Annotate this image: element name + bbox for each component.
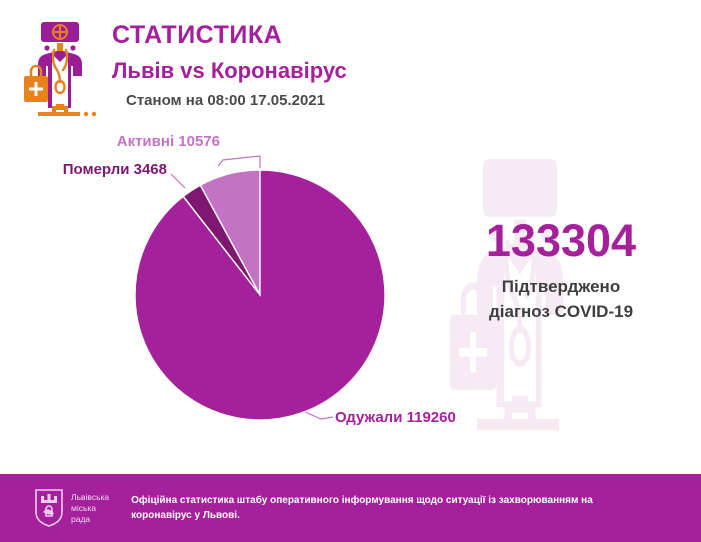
- leader-line: [305, 412, 333, 419]
- header-text-block: СТАТИСТИКА Львів vs Коронавірус Станом н…: [112, 20, 512, 111]
- leader-line: [218, 156, 260, 168]
- leader-line: [171, 174, 185, 188]
- logo-line-1: Львівська: [71, 492, 109, 503]
- confirmed-stat-block: 133304 Підтверджено діагноз COVID-19: [430, 216, 692, 324]
- main-content: Активні 10576 Померли 3468 Одужали 11926…: [0, 126, 701, 474]
- city-council-logo: Львівська міська рада: [34, 488, 109, 528]
- footer-disclaimer: Офіційна статистика штабу оперативного і…: [131, 493, 601, 523]
- logo-line-2: міська: [71, 503, 109, 514]
- lviv-coat-of-arms-icon: [34, 488, 64, 528]
- page-title: СТАТИСТИКА: [112, 20, 512, 50]
- confirmed-caption-line2: діагноз COVID-19: [430, 299, 692, 324]
- infographic-page: СТАТИСТИКА Львів vs Коронавірус Станом н…: [0, 0, 701, 542]
- pie-chart: Активні 10576 Померли 3468 Одужали 11926…: [40, 126, 460, 456]
- page-subtitle: Львів vs Коронавірус: [112, 56, 512, 86]
- as-of-date: Станом на 08:00 17.05.2021: [126, 91, 512, 111]
- header: СТАТИСТИКА Львів vs Коронавірус Станом н…: [0, 0, 701, 126]
- pie-slice-recovered: [135, 170, 385, 420]
- pie-slices: [135, 170, 385, 420]
- doctor-icon: [14, 14, 106, 118]
- city-council-label: Львівська міська рада: [71, 492, 109, 525]
- logo-line-3: рада: [71, 514, 109, 525]
- pie-label-active: Активні 10576: [117, 133, 220, 150]
- pie-label-dead: Померли 3468: [63, 161, 167, 178]
- pie-label-recovered: Одужали 119260: [335, 409, 456, 426]
- confirmed-count: 133304: [430, 216, 692, 266]
- footer: Львівська міська рада Офіційна статистик…: [0, 474, 701, 542]
- confirmed-caption-line1: Підтверджено: [430, 274, 692, 299]
- confirmed-caption: Підтверджено діагноз COVID-19: [430, 274, 692, 324]
